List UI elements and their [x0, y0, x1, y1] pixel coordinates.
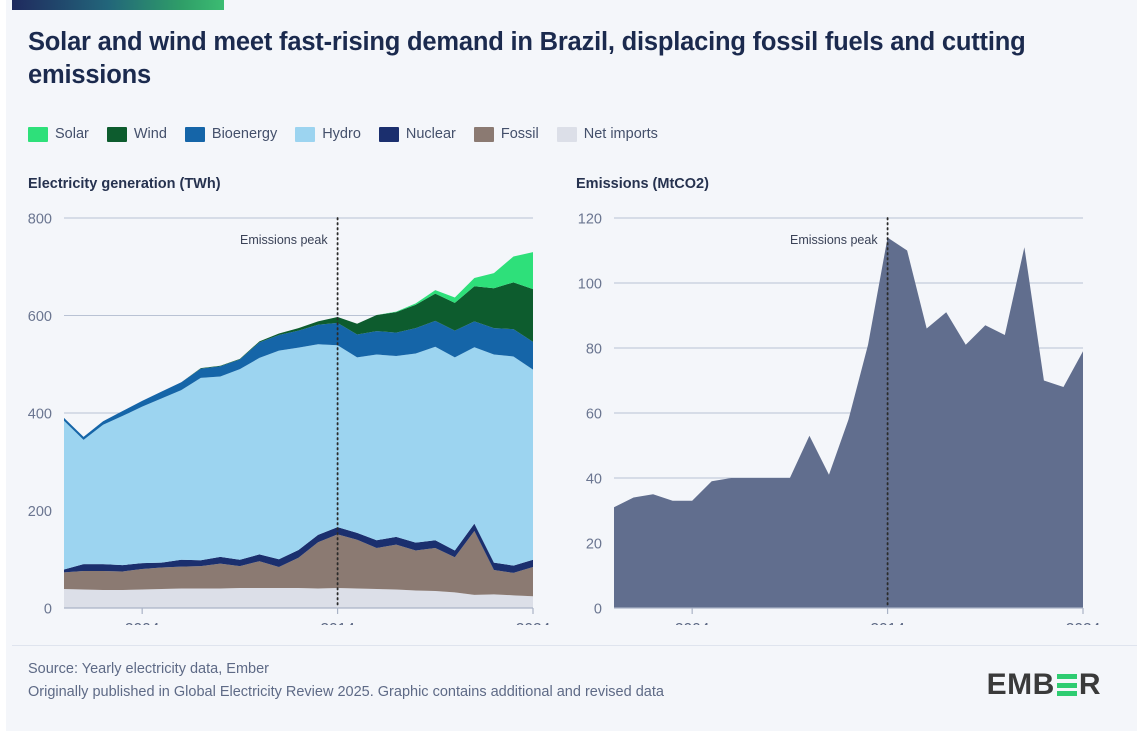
- y-axis-tick-label: 120: [578, 212, 602, 228]
- legend-label: Solar: [55, 126, 89, 142]
- legend-item-nuclear[interactable]: Nuclear: [379, 126, 456, 142]
- y-axis-tick-label: 400: [28, 407, 52, 423]
- accent-bar: [12, 0, 224, 10]
- legend-item-wind[interactable]: Wind: [107, 126, 167, 142]
- ember-logo-text-2: R: [1079, 668, 1101, 702]
- legend-swatch-icon: [474, 127, 494, 142]
- right-panel-title: Emissions (MtCO2): [576, 176, 709, 192]
- left-panel-title: Electricity generation (TWh): [28, 176, 221, 192]
- x-axis-tick-label: 2004: [125, 621, 160, 625]
- legend-swatch-icon: [295, 127, 315, 142]
- y-axis-tick-label: 0: [44, 602, 52, 618]
- legend-item-solar[interactable]: Solar: [28, 126, 89, 142]
- ember-logo-text-1: EMB: [987, 668, 1055, 702]
- legend-label: Nuclear: [406, 126, 456, 142]
- legend-swatch-icon: [185, 127, 205, 142]
- x-axis-tick-label: 2024: [1066, 621, 1101, 625]
- legend-label: Hydro: [322, 126, 361, 142]
- legend-item-net-imports[interactable]: Net imports: [557, 126, 658, 142]
- legend-swatch-icon: [557, 127, 577, 142]
- legend-item-fossil[interactable]: Fossil: [474, 126, 539, 142]
- y-axis-tick-label: 40: [586, 472, 602, 488]
- legend-label: Bioenergy: [212, 126, 277, 142]
- source-line: Source: Yearly electricity data, Ember: [28, 658, 664, 681]
- y-axis-tick-label: 800: [28, 212, 52, 228]
- y-axis-tick-label: 600: [28, 309, 52, 325]
- x-axis-tick-label: 2014: [870, 621, 905, 625]
- legend-label: Net imports: [584, 126, 658, 142]
- y-axis-tick-label: 20: [586, 537, 602, 553]
- emissions-svg: 020406080100120200420142024Emissions pea…: [566, 205, 1137, 625]
- y-axis-tick-label: 80: [586, 342, 602, 358]
- x-axis-tick-label: 2024: [516, 621, 551, 625]
- legend-swatch-icon: [379, 127, 399, 142]
- legend-item-hydro[interactable]: Hydro: [295, 126, 361, 142]
- infographic-page: Solar and wind meet fast-rising demand i…: [0, 0, 1137, 731]
- publication-line: Originally published in Global Electrici…: [28, 681, 664, 704]
- legend: SolarWindBioenergyHydroNuclearFossilNet …: [28, 126, 658, 142]
- y-axis-tick-label: 100: [578, 277, 602, 293]
- area-emissions: [614, 238, 1083, 609]
- electricity-generation-svg: 0200400600800200420142024Emissions peak: [6, 205, 566, 625]
- x-axis-tick-label: 2004: [675, 621, 710, 625]
- emissions-peak-annotation-label: Emissions peak: [790, 233, 878, 247]
- emissions-chart: 020406080100120200420142024Emissions pea…: [566, 205, 1137, 625]
- x-axis-tick-label: 2014: [320, 621, 355, 625]
- area-hydro: [64, 344, 533, 569]
- legend-swatch-icon: [107, 127, 127, 142]
- ember-logo-accent-e-icon: [1057, 674, 1077, 696]
- legend-swatch-icon: [28, 127, 48, 142]
- legend-label: Wind: [134, 126, 167, 142]
- legend-item-bioenergy[interactable]: Bioenergy: [185, 126, 277, 142]
- y-axis-tick-label: 0: [594, 602, 602, 618]
- page-title: Solar and wind meet fast-rising demand i…: [28, 26, 1108, 91]
- legend-label: Fossil: [501, 126, 539, 142]
- y-axis-tick-label: 60: [586, 407, 602, 423]
- y-axis-tick-label: 200: [28, 504, 52, 520]
- footer-divider: [12, 645, 1137, 646]
- electricity-generation-chart: 0200400600800200420142024Emissions peak: [6, 205, 566, 625]
- ember-logo: EMB R: [987, 668, 1101, 702]
- emissions-peak-annotation-label: Emissions peak: [240, 233, 328, 247]
- footer: Source: Yearly electricity data, Ember O…: [28, 658, 664, 705]
